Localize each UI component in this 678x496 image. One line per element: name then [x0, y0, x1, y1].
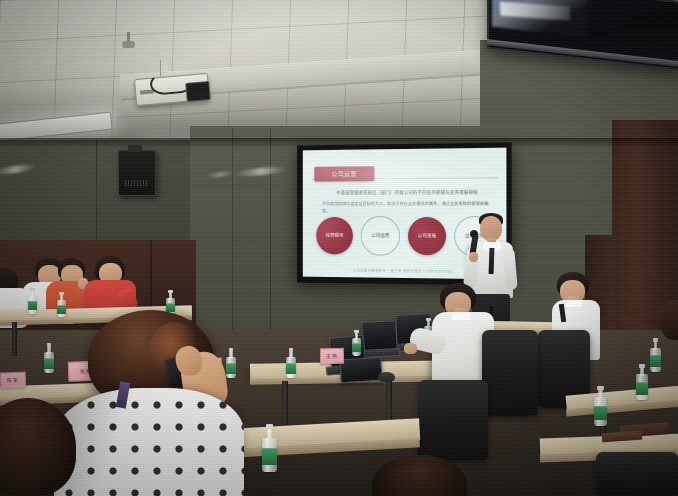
- conference-room-photo: 公司运营 中基层管理者或岗位（部门）有着公司的不同业务职能与业务发展目标 不同类…: [0, 0, 678, 496]
- table-leg: [12, 322, 17, 356]
- name-card-text: 王伟: [326, 352, 338, 359]
- name-card: 陈军: [0, 372, 26, 389]
- slide-title-text: 公司运营: [332, 169, 357, 178]
- water-bottle: [57, 292, 66, 317]
- slide-circle-2: 公司运营: [361, 216, 400, 256]
- wall-seam: [232, 128, 233, 343]
- computer-mouse[interactable]: [378, 372, 395, 382]
- bottle-label: [166, 303, 175, 312]
- water-bottle: [44, 343, 54, 373]
- bottle-label: [594, 406, 607, 420]
- office-chair: [596, 452, 678, 496]
- presenter-hand: [469, 252, 478, 262]
- slide-lead-text: 中基层管理者或岗位（部门）有着公司的不同业务职能与业务发展目标: [328, 189, 487, 197]
- attendee-collar: [452, 312, 470, 320]
- water-bottle: [286, 348, 296, 378]
- water-bottle: [594, 386, 607, 426]
- laptop-screen[interactable]: [339, 357, 383, 384]
- water-bottle: [262, 424, 277, 472]
- slide-title-banner: 公司运营: [314, 166, 374, 181]
- slide-body-text: 不同类型的岗位设定及目标的大小，取决于所在业务模块的属性，通过业务系统的梳理来确…: [322, 201, 491, 215]
- wall-seam: [270, 128, 271, 338]
- water-bottle: [352, 330, 361, 356]
- slide-circle-1: 经营模块: [316, 217, 353, 255]
- water-bottle: [28, 288, 37, 314]
- bottle-label: [28, 301, 37, 310]
- water-bottle: [636, 364, 648, 400]
- bottle-label: [262, 448, 277, 465]
- microphone-head: [470, 230, 478, 238]
- bottle-label: [44, 358, 54, 369]
- projector-lens: [185, 81, 211, 102]
- slide-circle-3: 公司发展: [408, 217, 446, 255]
- water-bottle: [650, 338, 661, 372]
- attendee-head: [660, 300, 678, 340]
- bottle-label: [650, 355, 661, 367]
- bottle-label: [286, 363, 296, 374]
- water-bottle: [226, 348, 236, 378]
- attendee-body-shading: [54, 388, 244, 496]
- name-card: 王伟: [320, 348, 344, 364]
- bottle-label: [57, 305, 66, 314]
- bottle-label: [226, 363, 236, 374]
- office-chair: [418, 380, 488, 460]
- speaker-bracket: [128, 145, 142, 152]
- presenter-tie: [489, 248, 495, 274]
- attendee-collar: [566, 300, 582, 307]
- wall-speaker-icon: [118, 150, 156, 196]
- bottle-label: [636, 382, 648, 395]
- sprinkler-icon: [122, 41, 135, 48]
- office-chair: [482, 330, 538, 416]
- attendee-hand: [404, 343, 417, 354]
- name-card-text: 陈军: [7, 376, 19, 383]
- speaker-grille: [125, 180, 147, 186]
- bottle-label: [352, 343, 361, 352]
